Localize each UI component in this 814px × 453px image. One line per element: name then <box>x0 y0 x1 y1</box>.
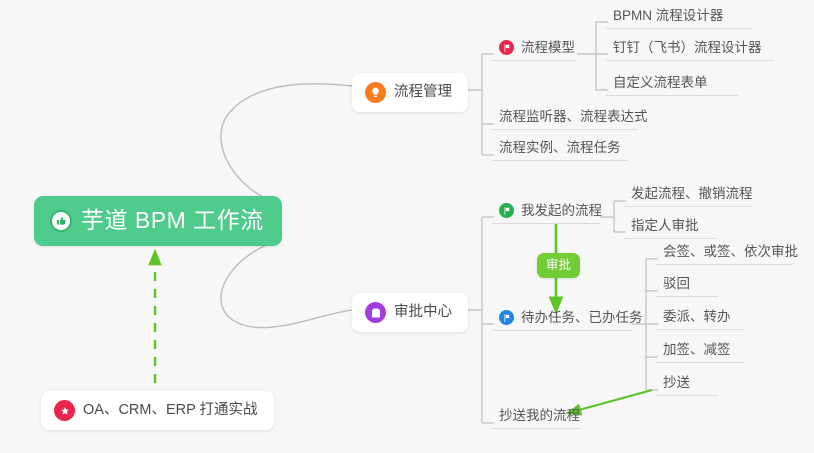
node-label-bpmn-designer: BPMN 流程设计器 <box>613 9 723 23</box>
node-assignee-approval[interactable]: 指定人审批 <box>624 219 716 239</box>
mindmap-canvas: 芋道 BPM 工作流 流程管理 流程模型 BPMN 流程设计器 钉钉（飞书）流程… <box>0 0 814 453</box>
approve-badge-label: 审批 <box>546 258 571 272</box>
node-label-my-initiated-flows: 我发起的流程 <box>521 204 602 218</box>
node-label-instance-task: 流程实例、流程任务 <box>499 141 621 155</box>
node-todo-done-tasks[interactable]: 待办任务、已办任务 <box>492 310 632 331</box>
clipboard-icon <box>365 302 386 323</box>
node-label-start-cancel-flow: 发起流程、撤销流程 <box>631 187 753 201</box>
branch-node-process-management[interactable]: 流程管理 <box>352 73 468 112</box>
node-reject[interactable]: 驳回 <box>656 277 718 297</box>
star-icon <box>54 400 75 421</box>
node-process-model[interactable]: 流程模型 <box>492 40 577 61</box>
node-label-countersign-modes: 会签、或签、依次审批 <box>663 245 798 259</box>
node-start-cancel-flow[interactable]: 发起流程、撤销流程 <box>624 187 752 207</box>
link-root-to-process-management <box>221 84 352 204</box>
branch-label-process-management: 流程管理 <box>394 85 452 100</box>
node-bpmn-designer[interactable]: BPMN 流程设计器 <box>606 9 752 29</box>
node-my-initiated-flows[interactable]: 我发起的流程 <box>492 203 600 224</box>
floating-label-oa-crm-erp: OA、CRM、ERP 打通实战 <box>83 403 258 418</box>
lightbulb-icon <box>365 82 386 103</box>
node-label-listener-expression: 流程监听器、流程表达式 <box>499 110 648 124</box>
flag-icon <box>499 310 514 325</box>
node-add-remove-sign[interactable]: 加签、减签 <box>656 343 744 363</box>
node-cc-to-me-flows[interactable]: 抄送我的流程 <box>492 409 580 429</box>
node-label-assignee-approval: 指定人审批 <box>631 219 699 233</box>
root-node[interactable]: 芋道 BPM 工作流 <box>34 196 282 246</box>
flag-icon <box>499 203 514 218</box>
branch-node-approval-center[interactable]: 审批中心 <box>352 293 468 332</box>
branch-label-approval-center: 审批中心 <box>394 305 452 320</box>
node-delegate-transfer[interactable]: 委派、转办 <box>656 310 744 330</box>
root-label: 芋道 BPM 工作流 <box>81 209 264 232</box>
node-cc[interactable]: 抄送 <box>656 376 718 396</box>
node-label-add-remove-sign: 加签、减签 <box>663 343 731 357</box>
node-label-cc: 抄送 <box>663 376 690 390</box>
flag-icon <box>499 40 514 55</box>
node-label-delegate-transfer: 委派、转办 <box>663 310 731 324</box>
node-label-process-model: 流程模型 <box>521 41 575 55</box>
node-label-cc-to-me-flows: 抄送我的流程 <box>499 409 580 423</box>
node-custom-form[interactable]: 自定义流程表单 <box>606 76 738 96</box>
node-listener-expression[interactable]: 流程监听器、流程表达式 <box>492 110 638 130</box>
link-root-to-approval-center <box>221 240 352 328</box>
node-instance-task[interactable]: 流程实例、流程任务 <box>492 141 628 161</box>
approve-badge[interactable]: 审批 <box>537 253 580 278</box>
arrow-cc-to-ccmine <box>568 390 652 413</box>
node-label-dingtalk-designer: 钉钉（飞书）流程设计器 <box>613 41 762 55</box>
node-label-reject: 驳回 <box>663 277 690 291</box>
node-countersign-modes[interactable]: 会签、或签、依次审批 <box>656 245 792 265</box>
node-label-todo-done-tasks: 待办任务、已办任务 <box>521 311 643 325</box>
thumbs-up-icon <box>50 210 72 232</box>
floating-node-oa-crm-erp[interactable]: OA、CRM、ERP 打通实战 <box>41 391 274 430</box>
node-dingtalk-designer[interactable]: 钉钉（飞书）流程设计器 <box>606 41 774 61</box>
node-label-custom-form: 自定义流程表单 <box>613 76 708 90</box>
